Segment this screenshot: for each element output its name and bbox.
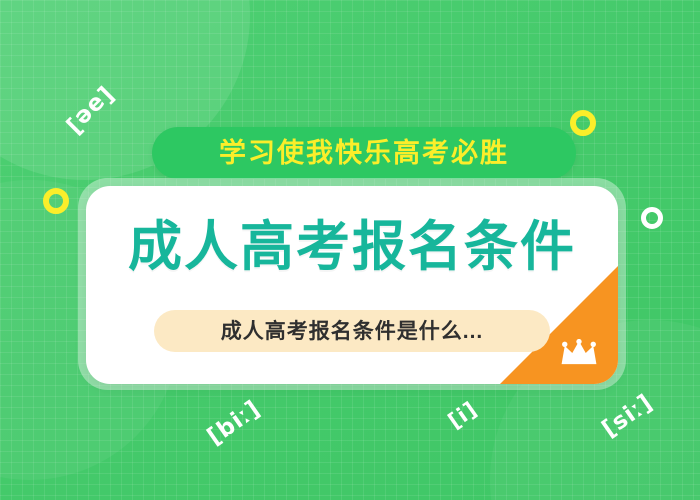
main-card: 成人高考报名条件 成人高考报名条件是什么... — [86, 186, 618, 384]
crown-icon — [560, 339, 598, 367]
card-subtitle-pill: 成人高考报名条件是什么... — [154, 310, 550, 352]
card-subtitle-text: 成人高考报名条件是什么... — [221, 321, 484, 342]
decorative-ring-yellow-right — [570, 110, 596, 136]
slogan-banner: 学习使我快乐高考必胜 — [152, 127, 576, 179]
decorative-ring-white-right — [641, 207, 663, 229]
slogan-banner-text: 学习使我快乐高考必胜 — [219, 140, 509, 167]
card-title: 成人高考报名条件 — [86, 220, 618, 274]
poster-canvas: [əe] [biː] [i] [siː] 学习使我快乐高考必胜 成人高考报名条件… — [0, 0, 700, 500]
decorative-ring-yellow-left — [43, 188, 69, 214]
